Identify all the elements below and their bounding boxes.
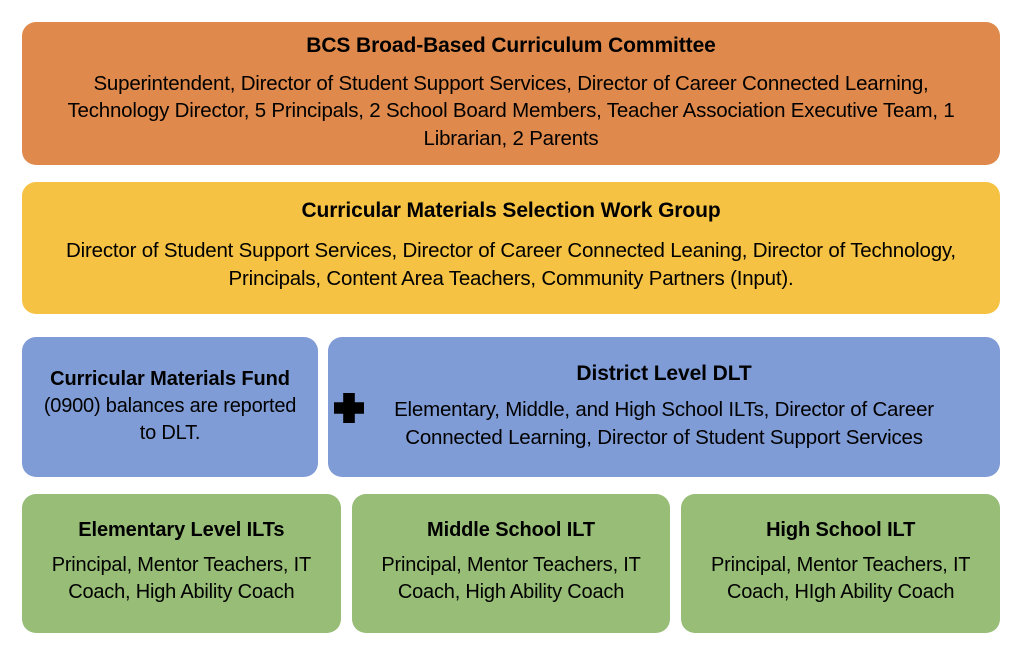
- work-group-members: Director of Student Support Services, Di…: [59, 237, 964, 292]
- committee-title: BCS Broad-Based Curriculum Committee: [306, 33, 715, 59]
- high-ilt-title: High School ILT: [766, 518, 915, 543]
- elementary-level-ilts-box[interactable]: Elementary Level ILTs Principal, Mentor …: [22, 494, 341, 633]
- dlt-title: District Level DLT: [576, 361, 751, 387]
- committee-members: Superintendent, Director of Student Supp…: [44, 70, 978, 152]
- work-group-row: Curricular Materials Selection Work Grou…: [22, 182, 1000, 314]
- committee-row: BCS Broad-Based Curriculum Committee Sup…: [22, 22, 1000, 165]
- elementary-ilt-members: Principal, Mentor Teachers, IT Coach, Hi…: [32, 552, 331, 606]
- middle-ilt-members: Principal, Mentor Teachers, IT Coach, Hi…: [362, 552, 661, 606]
- middle-ilt-title: Middle School ILT: [427, 518, 595, 543]
- district-level-row: Curricular Materials Fund (0900) balance…: [22, 337, 1000, 477]
- bcs-broad-based-curriculum-committee-box[interactable]: BCS Broad-Based Curriculum Committee Sup…: [22, 22, 1000, 165]
- connector-gap: [318, 337, 328, 477]
- district-level-dlt-box[interactable]: District Level DLT Elementary, Middle, a…: [328, 337, 1000, 477]
- fund-body: (0900) balances are reported to DLT.: [34, 393, 306, 446]
- high-school-ilt-box[interactable]: High School ILT Principal, Mentor Teache…: [681, 494, 1000, 633]
- middle-school-ilt-box[interactable]: Middle School ILT Principal, Mentor Teac…: [352, 494, 671, 633]
- fund-title: Curricular Materials Fund: [50, 367, 290, 392]
- ilt-row: Elementary Level ILTs Principal, Mentor …: [22, 494, 1000, 633]
- curricular-materials-selection-work-group-box[interactable]: Curricular Materials Selection Work Grou…: [22, 182, 1000, 314]
- dlt-members: Elementary, Middle, and High School ILTs…: [359, 396, 969, 451]
- curricular-materials-fund-box[interactable]: Curricular Materials Fund (0900) balance…: [22, 337, 318, 477]
- high-ilt-members: Principal, Mentor Teachers, IT Coach, HI…: [691, 552, 990, 606]
- work-group-title: Curricular Materials Selection Work Grou…: [301, 198, 720, 224]
- org-chart-diagram: BCS Broad-Based Curriculum Committee Sup…: [0, 0, 1024, 654]
- elementary-ilt-title: Elementary Level ILTs: [78, 518, 284, 543]
